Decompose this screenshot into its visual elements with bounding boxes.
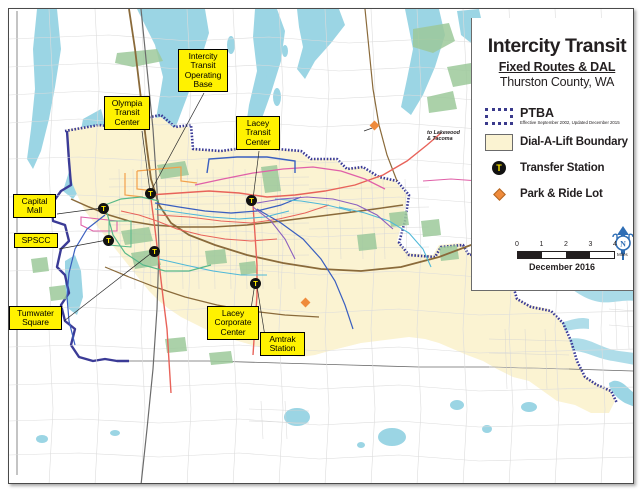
transfer-station-tumwater[interactable]: T	[149, 246, 160, 257]
transfer-station-spscc[interactable]: T	[103, 235, 114, 246]
title-block: Intercity Transit Fixed Routes & DAL Thu…	[472, 18, 634, 90]
transfer-station-olympia[interactable]: T	[145, 188, 156, 199]
transfer-glyph: T	[106, 237, 111, 245]
transfer-station-amtrak[interactable]: T	[250, 278, 261, 289]
transfer-glyph: T	[101, 205, 106, 213]
label-olympia-transit-center[interactable]: Olympia Transit Center	[104, 96, 150, 130]
legend-row-transfer-station[interactable]: T Transfer Station	[478, 155, 634, 181]
map-frame: T T T T T T Olympia Transit Center Inter…	[8, 8, 634, 484]
scale-bar: 0 1 2 3 4 Miles December 2016	[511, 241, 634, 272]
legend-row-dial-a-lift[interactable]: Dial-A-Lift Boundary	[478, 129, 634, 155]
legend-label-ptba: PTBA	[520, 107, 620, 120]
legend-label-dial-a-lift: Dial-A-Lift Boundary	[520, 136, 628, 148]
map-subtitle-2: Thurston County, WA	[478, 75, 634, 90]
label-spscc[interactable]: SPSCC	[14, 233, 58, 248]
label-capital-mall[interactable]: Capital Mall	[13, 194, 56, 218]
label-lacey-corporate-center[interactable]: Lacey Corporate Center	[207, 306, 259, 340]
transfer-station-icon: T	[478, 161, 520, 175]
scale-tick: 3	[589, 241, 593, 248]
scale-tick-labels: 0 1 2 3 4	[517, 241, 615, 251]
label-intercity-transit-operating-base[interactable]: Intercity Transit Operating Base	[178, 49, 228, 92]
scale-tick: 2	[564, 241, 568, 248]
transfer-station-lacey[interactable]: T	[246, 195, 257, 206]
transfer-glyph: T	[148, 190, 153, 198]
scale-tick: 4	[613, 241, 617, 248]
legend-label-transfer-station: Transfer Station	[520, 162, 604, 174]
map-title: Intercity Transit	[478, 36, 634, 57]
legend-row-ptba[interactable]: PTBA Effective September 2002, Updated D…	[478, 103, 634, 129]
map-subtitle-1: Fixed Routes & DAL	[478, 59, 634, 75]
annotation-to-lakewood-tacoma: to Lakewood & Tacoma	[427, 130, 460, 143]
legend-entries: PTBA Effective September 2002, Updated D…	[472, 103, 634, 207]
scale-tick: 1	[540, 241, 544, 248]
park-and-ride-icon	[478, 190, 520, 199]
transfer-station-west[interactable]: T	[98, 203, 109, 214]
scale-tick: 0	[515, 241, 519, 248]
transfer-t-glyph: T	[496, 164, 502, 173]
label-tumwater-square[interactable]: Tumwater Square	[9, 306, 62, 330]
legend-note-ptba: Effective September 2002, Updated Decemb…	[520, 120, 620, 126]
scale-unit-label: Miles	[617, 252, 628, 257]
transfer-glyph: T	[249, 197, 254, 205]
label-amtrak-station[interactable]: Amtrak Station	[260, 332, 305, 356]
legend-row-park-and-ride[interactable]: Park & Ride Lot	[478, 181, 634, 207]
map-date: December 2016	[529, 262, 634, 272]
dial-a-lift-swatch-icon	[478, 134, 520, 151]
legend-label-park-and-ride: Park & Ride Lot	[520, 188, 603, 200]
transfer-glyph: T	[253, 280, 258, 288]
map-screenshot: T T T T T T Olympia Transit Center Inter…	[0, 0, 642, 492]
label-lacey-transit-center[interactable]: Lacey Transit Center	[236, 116, 280, 150]
ptba-swatch-icon	[478, 108, 520, 125]
scale-bar-segments	[517, 251, 615, 259]
transfer-glyph: T	[152, 248, 157, 256]
